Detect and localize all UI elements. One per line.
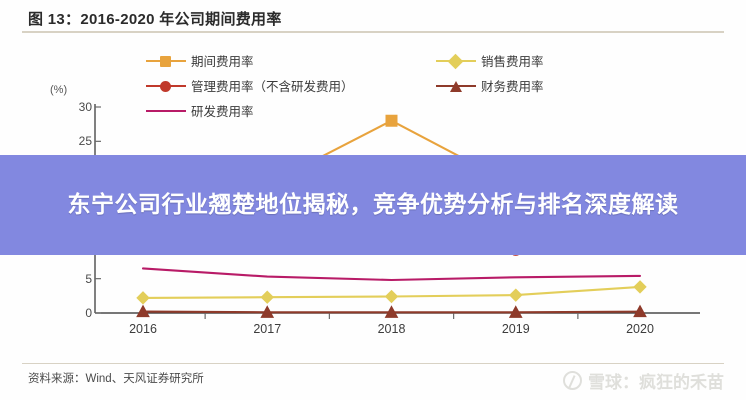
series-marker (386, 115, 397, 126)
series-marker (137, 292, 149, 304)
x-tick-label: 2018 (362, 322, 422, 336)
chart-series (137, 281, 646, 304)
series-marker (386, 291, 398, 303)
y-tick-label: 30 (56, 100, 92, 114)
figure-container: 图 13：2016-2020 年公司期间费用率 期间费用率销售费用率管理费用率（… (0, 0, 746, 400)
x-tick-label: 2020 (610, 322, 670, 336)
footer-divider (22, 363, 724, 364)
series-marker (261, 291, 273, 303)
chart-series (137, 306, 646, 318)
x-tick-label: 2019 (486, 322, 546, 336)
y-tick-label: 5 (56, 272, 92, 286)
y-tick-label: 0 (56, 306, 92, 320)
series-marker (634, 281, 646, 293)
series-marker (510, 289, 522, 301)
overlay-banner: 东宁公司行业翘楚地位揭秘，竞争优势分析与排名深度解读 (0, 155, 746, 255)
chart-series (143, 268, 640, 280)
series-line (143, 268, 640, 280)
x-tick-label: 2017 (237, 322, 297, 336)
y-tick-label: 25 (56, 134, 92, 148)
x-tick-label: 2016 (113, 322, 173, 336)
overlay-banner-text: 东宁公司行业翘楚地位揭秘，竞争优势分析与排名深度解读 (56, 189, 691, 220)
source-note: 资料来源：Wind、天风证券研究所 (28, 370, 204, 386)
